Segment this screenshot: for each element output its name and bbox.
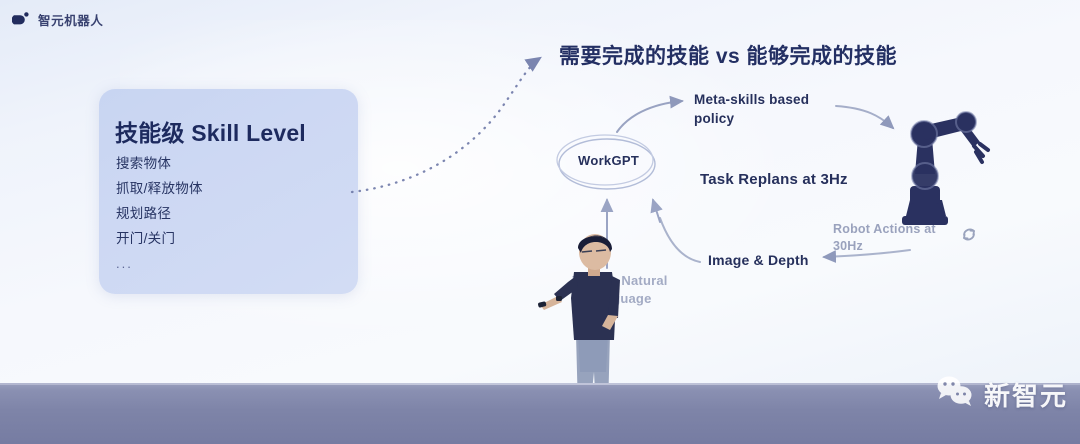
dotted-curved-arrow-icon bbox=[352, 58, 540, 192]
slide-capture-stage: 智元机器人 技能级 Skill Level 搜索物体 抓取/释放物体 规划路径 … bbox=[0, 0, 1080, 444]
label-workgpt: WorkGPT bbox=[578, 153, 639, 168]
watermark: 新智元 bbox=[935, 375, 1068, 414]
label-meta-skills-policy: Meta-skills based policy bbox=[694, 90, 834, 128]
arrow-image-to-workgpt bbox=[653, 200, 660, 222]
stage-floor bbox=[0, 383, 1080, 444]
arrow-policy-to-robot bbox=[836, 106, 893, 128]
arrow-workgpt-to-policy bbox=[617, 101, 682, 132]
label-task-replans: Task Replans at 3Hz bbox=[700, 171, 848, 188]
watermark-text: 新智元 bbox=[984, 376, 1068, 413]
label-image-depth: Image & Depth bbox=[708, 251, 809, 270]
robot-arm-icon bbox=[888, 104, 994, 236]
stage-floor-edge bbox=[0, 383, 1080, 385]
arrow-image-curve bbox=[660, 218, 700, 262]
wechat-icon bbox=[935, 375, 975, 414]
